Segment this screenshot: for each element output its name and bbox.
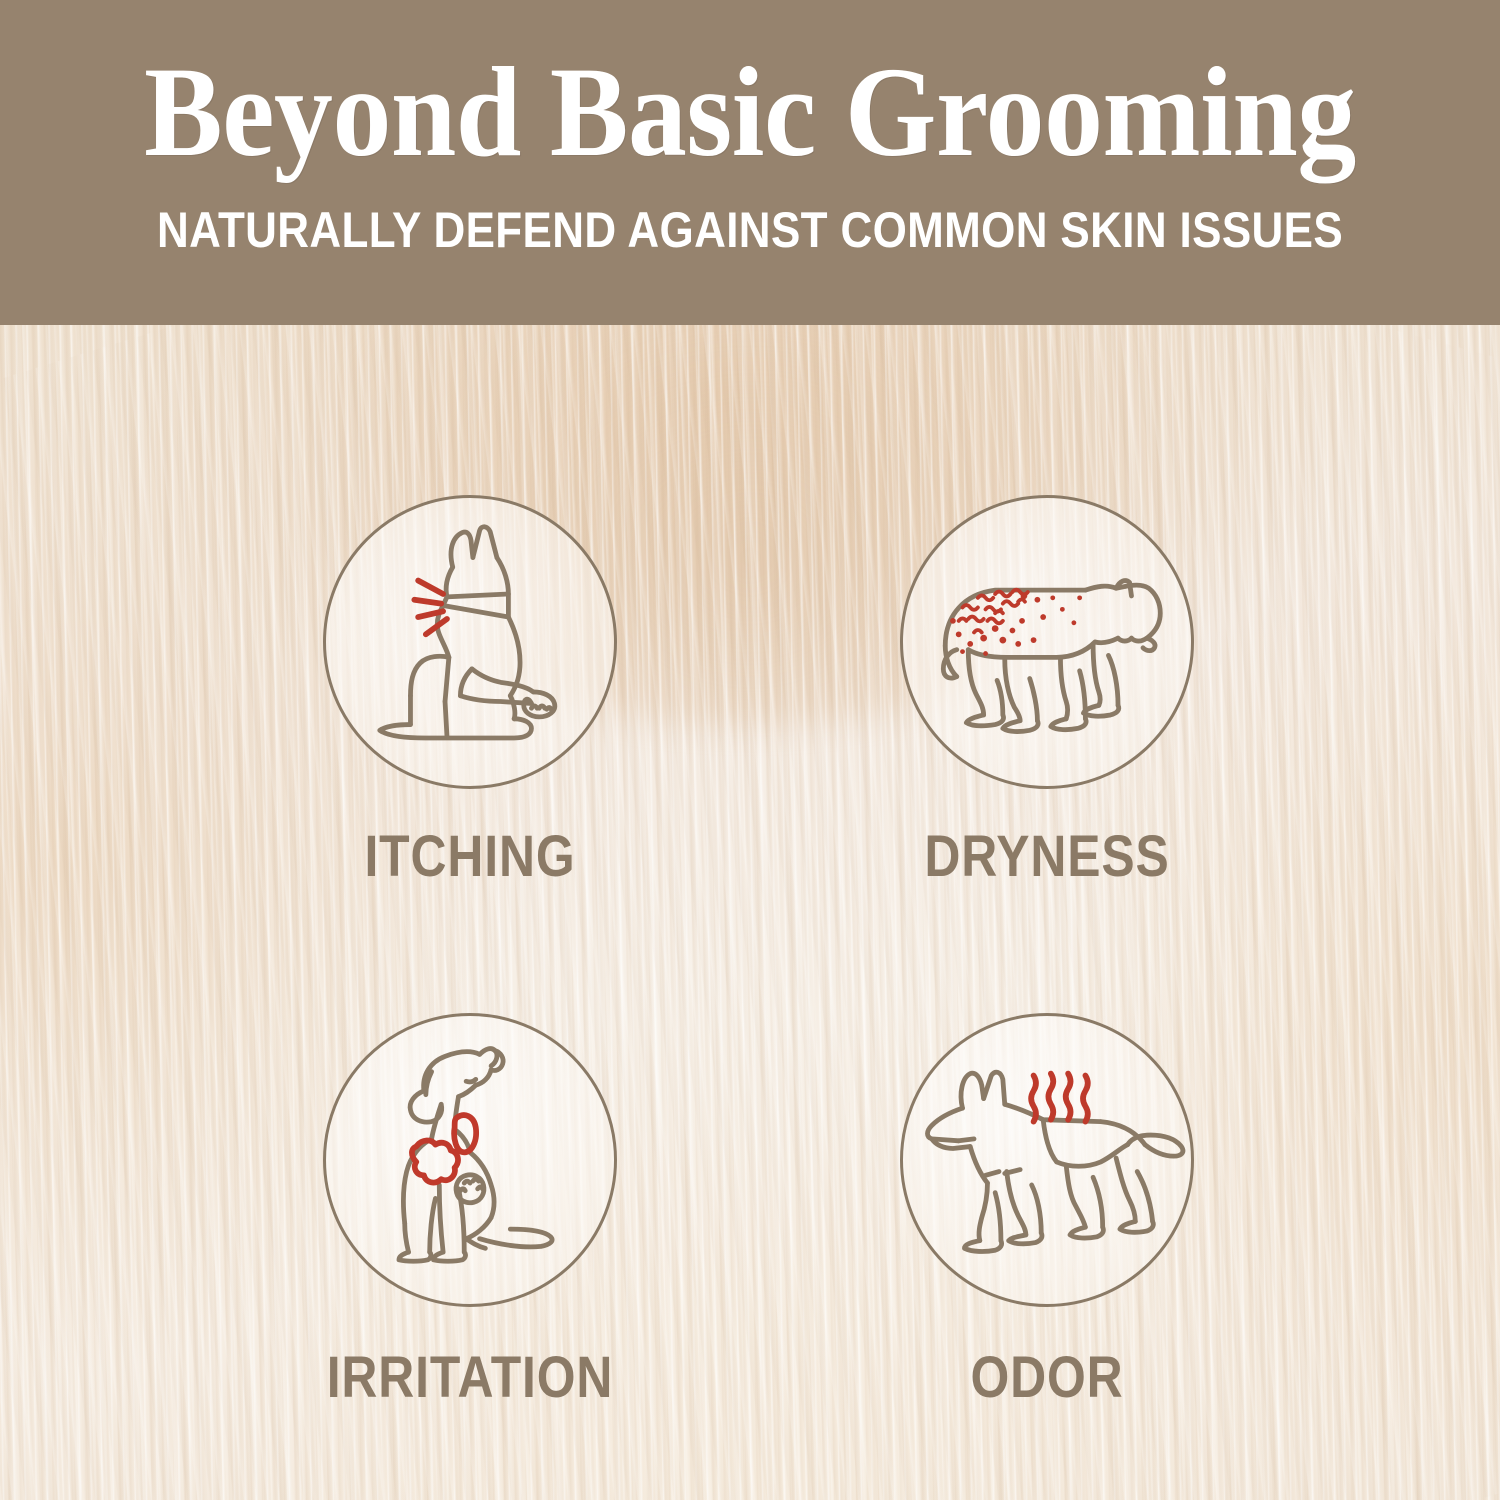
benefit-label-itching: ITCHING [229,828,711,886]
dog-sitting-irritation-icon [323,1013,617,1307]
header-band: Beyond Basic Grooming NATURALLY DEFEND A… [0,0,1500,325]
page-title: Beyond Basic Grooming [60,48,1440,176]
grooming-infographic-poster: Beyond Basic Grooming NATURALLY DEFEND A… [0,0,1500,1500]
odor-wave-marks [1031,1074,1088,1122]
benefit-label-irritation: IRRITATION [229,1349,711,1407]
benefit-label-odor: ODOR [806,1349,1288,1407]
page-subtitle: NATURALLY DEFEND AGAINST COMMON SKIN ISS… [90,205,1410,255]
dandruff-dot-marks [950,593,1082,656]
benefit-label-dryness: DRYNESS [806,828,1288,886]
dog-scratching-icon [323,495,617,789]
dog-flaky-skin-icon [900,495,1194,789]
dog-walking-odor-icon [900,1013,1194,1307]
